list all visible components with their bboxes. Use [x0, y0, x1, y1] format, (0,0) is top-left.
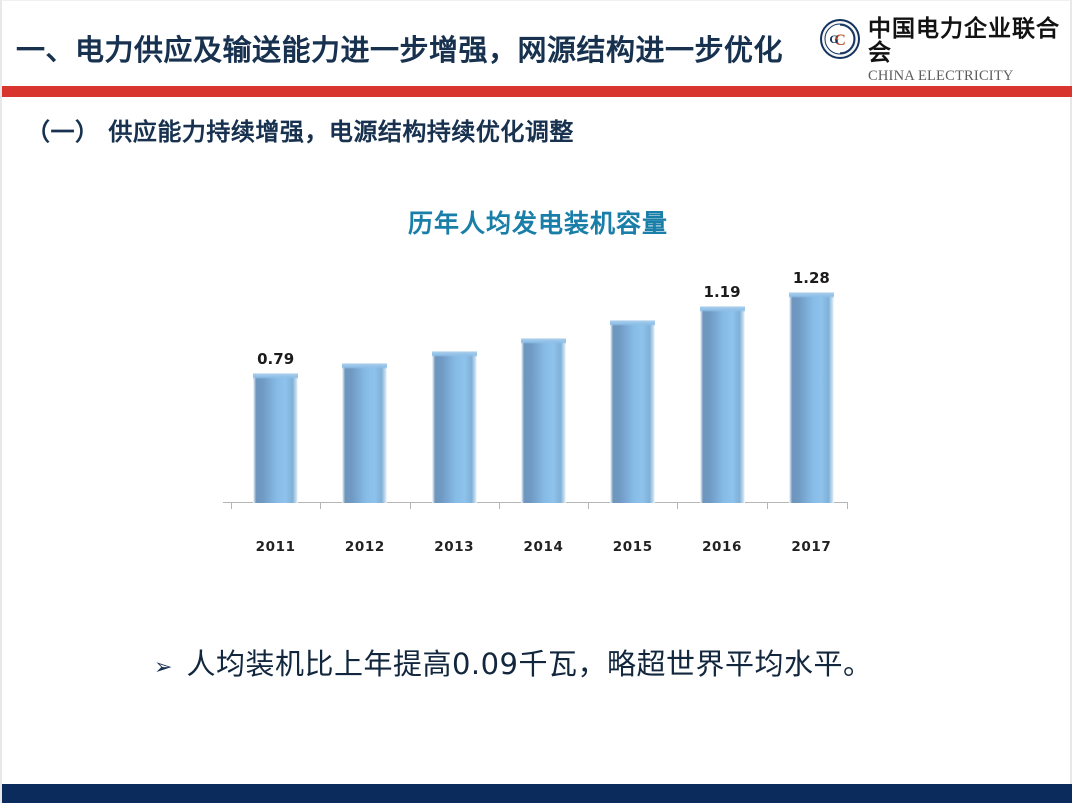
chart-title: 历年人均发电装机容量 [2, 204, 1072, 240]
bar-2014 [521, 338, 566, 503]
bullet-text: 人均装机比上年提高0.09千瓦，略超世界平均水平。 [186, 641, 872, 683]
bar-value-label-2017: 1.28 [776, 269, 846, 287]
bullet-arrow-icon: ➢ [154, 656, 172, 678]
x-axis-label-2015: 2015 [598, 539, 668, 555]
bar-value-label-2011: 0.79 [241, 350, 311, 368]
x-axis-label-2011: 2011 [241, 539, 311, 555]
tick-end [847, 503, 848, 509]
cec-emblem-icon: C G [820, 19, 860, 59]
section-subheading: （一） 供应能力持续增强，电源结构持续优化调整 [26, 112, 574, 147]
bar-2015 [610, 320, 655, 503]
tick-2014 [499, 503, 500, 509]
page-title: 一、电力供应及输送能力进一步增强，网源结构进一步优化 [16, 27, 826, 69]
bar-2017 [789, 292, 834, 503]
bar-cap [432, 351, 477, 357]
slide-canvas: 一、电力供应及输送能力进一步增强，网源结构进一步优化 C G 中国电力企业联合会… [0, 0, 1072, 803]
x-axis-label-2017: 2017 [776, 539, 846, 555]
bar-cap [610, 320, 655, 326]
bar-cap [521, 338, 566, 344]
logo-name-cn: 中国电力企业联合会 [868, 17, 1066, 65]
bar-chart: 0.791.191.28 201120122013201420152016201… [223, 263, 848, 555]
bar-cap [789, 292, 834, 298]
tick-2015 [588, 503, 589, 509]
tick-2011 [231, 503, 232, 509]
tick-2012 [320, 503, 321, 509]
header-divider [2, 86, 1072, 97]
bar-2013 [432, 351, 477, 503]
x-axis-label-2014: 2014 [509, 539, 579, 555]
svg-text:G: G [829, 32, 838, 46]
chart-plot-area: 0.791.191.28 [223, 263, 848, 529]
bar-2012 [342, 363, 387, 503]
x-axis-label-2013: 2013 [419, 539, 489, 555]
tick-2016 [677, 503, 678, 509]
bullet-point: ➢ 人均装机比上年提高0.09千瓦，略超世界平均水平。 [154, 641, 954, 683]
tick-2017 [767, 503, 768, 509]
tick-2013 [410, 503, 411, 509]
bar-2016 [700, 306, 745, 503]
footer-bar [2, 784, 1072, 803]
bar-value-label-2016: 1.19 [687, 283, 757, 301]
bar-cap [700, 306, 745, 312]
x-axis-label-2012: 2012 [330, 539, 400, 555]
bar-cap [253, 373, 298, 379]
organization-logo: C G 中国电力企业联合会 CHINA ELECTRICITY COUNCIL [820, 17, 1066, 79]
bar-2011 [253, 373, 298, 503]
x-axis-label-2016: 2016 [687, 539, 757, 555]
bar-cap [342, 363, 387, 369]
